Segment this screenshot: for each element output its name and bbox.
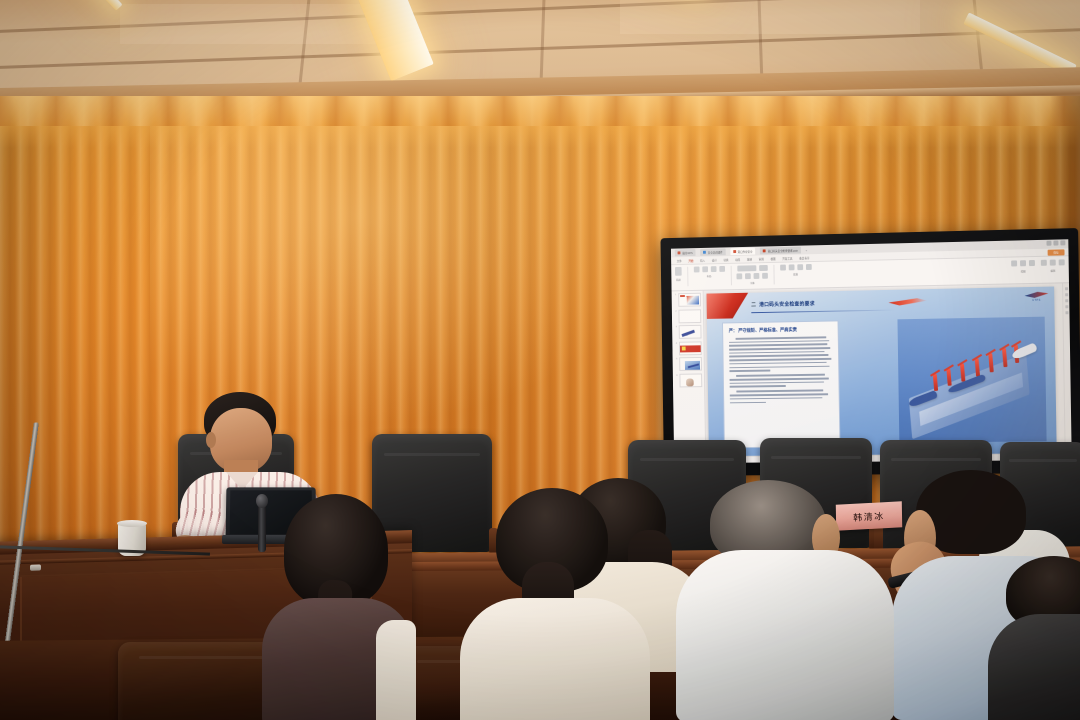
slide-thumb-preview[interactable]: [679, 373, 702, 387]
underline-icon[interactable]: [754, 273, 760, 279]
port-crane-icon: [933, 374, 938, 391]
audience-person: [1006, 556, 1080, 720]
help-icon[interactable]: [1065, 311, 1068, 314]
current-slide[interactable]: 二 港口码头安全检查的要求 CTPS 严： 严守规矩、严格标准、严肩实责: [706, 287, 1056, 461]
app-tab[interactable]: 我的WPS: [675, 249, 696, 256]
ribbon-group-label: 字体: [750, 281, 755, 285]
slide-paragraph: [729, 336, 833, 372]
slide-paragraph: [729, 374, 832, 388]
slide-port-photo: [897, 317, 1046, 443]
ribbon-tab-review[interactable]: 审阅: [759, 257, 764, 261]
slide-thumbnail[interactable]: 2: [674, 309, 702, 323]
slide-thumbnail[interactable]: 1: [673, 293, 701, 307]
slide-paragraph: [730, 390, 833, 404]
italic-icon[interactable]: [745, 273, 751, 279]
app-tab-label: 港口码头安全检查要求.pptx: [768, 248, 798, 253]
port-crane-icon: [988, 353, 994, 372]
ribbon-tab-insert[interactable]: 插入: [700, 258, 705, 262]
find-icon[interactable]: [1041, 260, 1047, 266]
ribbon-group-drawing[interactable]: 绘图: [1011, 260, 1035, 273]
ribbon-group-label: 粘贴: [676, 278, 681, 282]
ribbon-group-font[interactable]: 字体: [736, 265, 768, 285]
audience-person: [692, 480, 892, 720]
ribbon-group-label: 段落: [793, 272, 798, 276]
ribbon-tab-transitions[interactable]: 切换: [723, 258, 728, 262]
slide-thumb-preview[interactable]: [678, 325, 701, 339]
port-crane-icon: [946, 369, 951, 386]
curtain-scallop: [0, 96, 1080, 126]
slide-thumbnail[interactable]: 4: [674, 341, 702, 355]
desk-knob: [30, 564, 41, 570]
slide-section-number: 二: [751, 301, 756, 308]
ceiling-light: [67, 0, 122, 11]
slide-number: 5: [674, 357, 677, 360]
align-left-icon[interactable]: [797, 264, 803, 270]
ribbon-tab-animations[interactable]: 动画: [735, 257, 740, 261]
ribbon-tab-view[interactable]: 视图: [770, 256, 775, 260]
bold-icon[interactable]: [736, 273, 742, 279]
section-icon[interactable]: [719, 266, 725, 272]
number-list-icon[interactable]: [788, 264, 794, 270]
slide-thumb-preview[interactable]: [678, 293, 701, 307]
port-crane-icon: [975, 358, 980, 376]
design-ideas-icon[interactable]: [1065, 299, 1068, 302]
app-tab-label: 我的WPS: [682, 251, 693, 255]
slide-title: 二 港口码头安全检查的要求: [751, 297, 815, 311]
slide-thumbnail[interactable]: 6: [675, 373, 703, 387]
port-crane-icon: [960, 364, 965, 382]
ribbon-group-label: 布局: [707, 274, 712, 278]
slide-title-swoosh: [888, 298, 927, 306]
ribbon-group-editing[interactable]: 编辑: [1041, 259, 1065, 272]
share-icon[interactable]: [1065, 305, 1068, 308]
microphone[interactable]: [258, 500, 266, 552]
slide-title-text: 港口码头安全检查的要求: [759, 300, 815, 308]
quickstyle-icon[interactable]: [1029, 260, 1035, 266]
editor-body: 1 2 3: [672, 283, 1072, 463]
ribbon-tab-home[interactable]: 开始: [688, 258, 693, 262]
font-size-dropdown[interactable]: [759, 265, 768, 271]
ribbon-group-label: 绘图: [1021, 269, 1026, 273]
shape-icon[interactable]: [1011, 260, 1017, 266]
conference-room-photo: 我的WPS 安全培训课件 港口作业安全 港口码头安全检查要求.pptx +: [0, 0, 1080, 720]
comment-icon[interactable]: [1065, 293, 1068, 296]
new-tab-button[interactable]: +: [805, 248, 807, 252]
slide-thumb-preview[interactable]: [678, 341, 701, 355]
slide-thumbnail-panel[interactable]: 1 2 3: [672, 291, 707, 463]
slide-thumbnail[interactable]: 3: [674, 325, 702, 339]
screen[interactable]: 我的WPS 安全培训课件 港口作业安全 港口码头安全检查要求.pptx +: [671, 239, 1072, 463]
slide-thumbnail[interactable]: 5: [674, 357, 702, 371]
paste-icon[interactable]: [675, 267, 682, 276]
wall-display[interactable]: 我的WPS 安全培训课件 港口作业安全 港口码头安全检查要求.pptx +: [660, 228, 1080, 476]
port-crane-icon: [1002, 348, 1008, 367]
logo-text: CTPS: [1032, 299, 1040, 302]
slide-number: 6: [675, 373, 678, 376]
ribbon-group-label: 编辑: [1050, 269, 1055, 273]
font-family-dropdown[interactable]: [737, 265, 756, 271]
slide-logo: CTPS: [1023, 292, 1049, 306]
ribbon-tab-member[interactable]: 会员专享: [799, 256, 809, 260]
logo-swoosh-icon: [1024, 292, 1048, 298]
replace-icon[interactable]: [1050, 260, 1056, 266]
maximize-icon[interactable]: [1053, 240, 1058, 245]
ribbon-tab-developer[interactable]: 开发工具: [782, 256, 792, 260]
app-tab-active[interactable]: 港口作业安全: [730, 248, 755, 255]
align-center-icon[interactable]: [805, 264, 811, 270]
slide-number: 4: [674, 341, 677, 344]
app-tab[interactable]: 港口码头安全检查要求.pptx: [760, 247, 801, 255]
save-button[interactable]: 保存: [1048, 249, 1065, 255]
ribbon-tab-design[interactable]: 设计: [712, 258, 717, 262]
slide-canvas[interactable]: 二 港口码头安全检查的要求 CTPS 严： 严守规矩、严格标准、严肩实责: [704, 283, 1065, 463]
slide-textbox: 严： 严守规矩、严格标准、严肩实责: [722, 320, 840, 448]
ribbon-right-groups[interactable]: 绘图 编辑: [1011, 259, 1065, 273]
slide-number: 1: [673, 293, 676, 296]
bullet-list-icon[interactable]: [780, 265, 786, 271]
panel-icon[interactable]: [1065, 287, 1068, 290]
ribbon-group-paragraph[interactable]: 段落: [780, 264, 812, 276]
slide-thumb-preview[interactable]: [679, 357, 702, 371]
slide-thumb-preview[interactable]: [678, 309, 701, 323]
select-icon[interactable]: [1059, 259, 1065, 265]
audience-person: [268, 494, 408, 720]
minimize-icon[interactable]: [1046, 241, 1051, 246]
slide-corner-ribbon: [706, 293, 748, 319]
reset-icon[interactable]: [710, 266, 716, 272]
display-bezel: 我的WPS 安全培训课件 港口作业安全 港口码头安全检查要求.pptx +: [660, 228, 1080, 476]
layout-icon[interactable]: [702, 266, 708, 272]
ribbon-group-layout[interactable]: 布局: [693, 266, 724, 278]
torso: [676, 550, 894, 720]
window-controls[interactable]: [1046, 240, 1065, 245]
new-slide-icon[interactable]: [693, 267, 699, 273]
slide-number: 3: [674, 325, 677, 328]
slide-textbox-heading: 严： 严守规矩、严格标准、严肩实责: [729, 326, 832, 334]
arrange-icon[interactable]: [1020, 260, 1026, 266]
audience-person: [470, 488, 640, 720]
shoulder-highlight: [376, 620, 416, 720]
torso: [988, 614, 1080, 720]
close-icon[interactable]: [1060, 240, 1065, 245]
torso: [460, 598, 650, 720]
font-color-icon[interactable]: [762, 273, 768, 279]
ribbon-tab-file[interactable]: 文件: [677, 259, 682, 263]
app-tab[interactable]: 安全培训课件: [700, 248, 725, 255]
app-tab-label: 安全培训课件: [708, 250, 723, 254]
ribbon-group-paste[interactable]: 粘贴: [675, 267, 682, 282]
app-tab-label: 港口作业安全: [738, 249, 753, 253]
ribbon-tab-slideshow[interactable]: 放映: [747, 257, 752, 261]
slide-number: 2: [674, 309, 677, 312]
